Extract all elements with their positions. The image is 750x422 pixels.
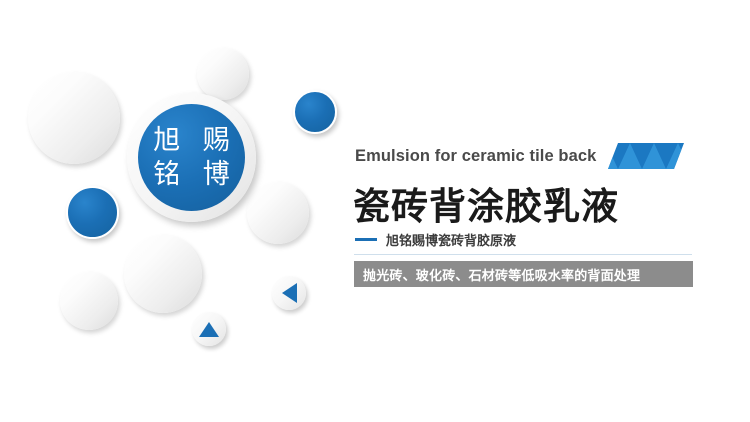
decor-circle-blue [293, 90, 337, 134]
tagline-row: 旭铭赐博瓷砖背胶原液 [355, 230, 516, 249]
logo: 旭 赐 铭 博 [127, 93, 256, 222]
logo-disc: 旭 赐 铭 博 [138, 104, 245, 211]
zigzag-parallelogram-icon [608, 143, 684, 169]
up-arrow-button[interactable] [192, 312, 226, 346]
decor-circle-gray [60, 272, 118, 330]
tagline-dash-icon [355, 238, 377, 241]
decor-circle-blue [66, 186, 119, 239]
feature-banner-text: 抛光砖、玻化砖、石材砖等低吸水率的背面处理 [354, 265, 640, 284]
left-arrow-button[interactable] [272, 276, 306, 310]
english-title: Emulsion for ceramic tile back [355, 147, 596, 166]
up-arrow-icon [199, 322, 219, 337]
divider [354, 254, 692, 255]
logo-line-2: 铭 博 [146, 158, 237, 192]
decor-circle-gray [197, 48, 249, 100]
presentation-slide: 旭 赐 铭 博 Emulsion for ceramic tile back [0, 0, 750, 422]
chinese-title: 瓷砖背涂胶乳液 [353, 176, 619, 230]
left-arrow-icon [282, 283, 297, 303]
decor-circle-gray [247, 182, 309, 244]
logo-line-1: 旭 赐 [146, 124, 237, 158]
decorative-circle-cluster: 旭 赐 铭 博 [0, 0, 345, 422]
tagline: 旭铭赐博瓷砖背胶原液 [386, 230, 516, 249]
decor-circle-gray [124, 235, 202, 313]
feature-banner: 抛光砖、玻化砖、石材砖等低吸水率的背面处理 [354, 261, 693, 287]
title-block: Emulsion for ceramic tile back 瓷砖背涂胶乳液 [352, 0, 750, 422]
english-title-row: Emulsion for ceramic tile back [355, 143, 684, 169]
decor-circle-gray [28, 72, 120, 164]
